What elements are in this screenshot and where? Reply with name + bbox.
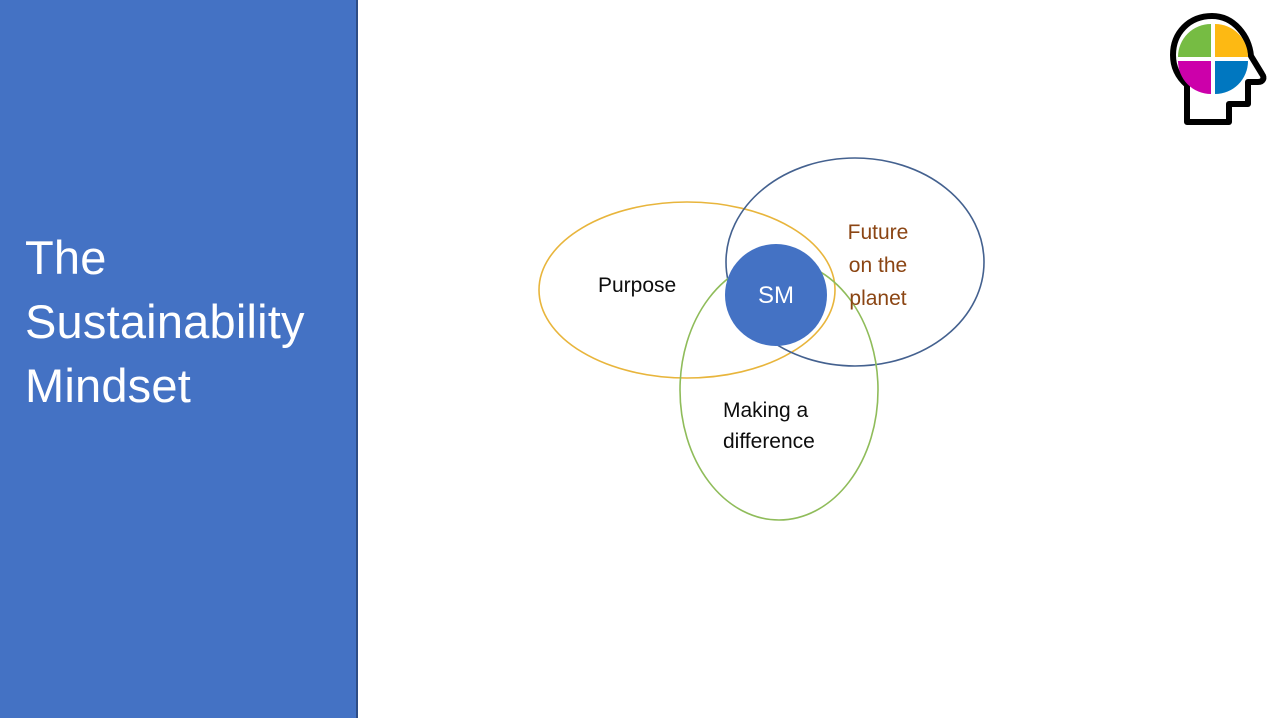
venn-label-future: Future on the planet — [832, 216, 924, 315]
venn-label-purpose: Purpose — [598, 272, 676, 300]
slide-canvas: The Sustainability Mindset — [0, 0, 1280, 720]
venn-label-sm: SM — [740, 281, 812, 311]
venn-diagram — [520, 140, 1010, 540]
quadrant-bottom-left — [1178, 61, 1211, 94]
head-logo-icon — [1166, 12, 1276, 130]
brand-logo — [1166, 12, 1276, 130]
page-title: The Sustainability Mindset — [25, 226, 345, 418]
venn-label-making: Making a difference — [723, 395, 815, 457]
title-panel: The Sustainability Mindset — [0, 0, 358, 718]
